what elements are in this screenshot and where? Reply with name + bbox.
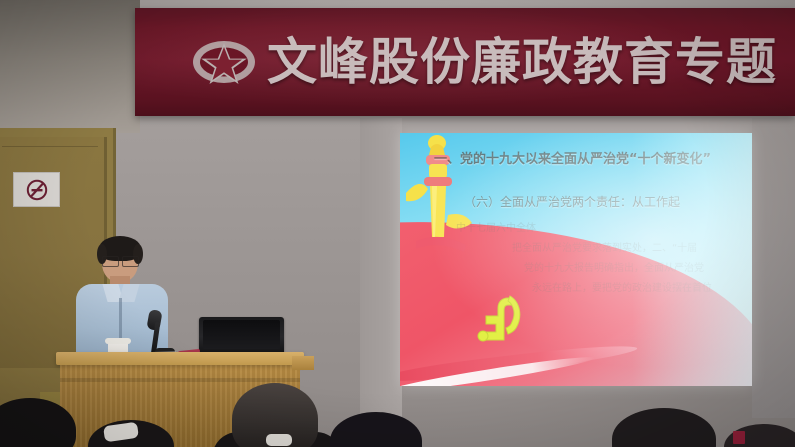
slide-body-line-1: 中十七届六中全体 [456,219,536,234]
wall-seam-left-of-screen [360,118,402,418]
no-smoking-sign [13,172,60,207]
slide-subtitle-text: （六）全面从严治党两个责任：从工作起 [464,193,752,210]
slide-body-line-3: 党的十九大报告明确指出，全面从严治党 [524,259,704,274]
hammer-and-sickle-emblem-icon [466,288,530,350]
banner-title-text: 文峰股份廉政教育专题 [267,37,777,87]
laptop-screen [203,320,280,349]
audience-red-badge [733,431,745,444]
slide-body-line-2: 把全面从严治党要求落到实处，二、“十届 [512,239,697,254]
door-trim-line [2,146,98,147]
presenter-glasses [102,256,139,265]
event-banner: 文峰股份廉政教育专题 [135,8,795,116]
audience-collar [266,434,292,446]
no-smoking-icon [24,178,50,202]
lecture-hall-photo: 文峰股份廉政教育专题 [0,0,795,447]
coffee-cup-lid [105,338,131,344]
podium-top-surface [56,352,304,365]
slide-title-text: 一、党的十九大以来全面从严治党“十个新变化” [434,148,750,167]
wenfeng-star-oval-logo-icon [191,38,257,86]
podium-side-extension [292,356,314,370]
podium-bevel [60,378,300,382]
slide-body-line-4: 永远在路上，要把党的政治建设摆在首位 [532,279,712,294]
right-wall-panel [752,118,795,418]
projection-screen: 一、党的十九大以来全面从严治党“十个新变化” （六）全面从严治党两个责任：从工作… [400,133,752,386]
upper-left-wall [0,0,140,133]
banner-content-row: 文峰股份廉政教育专题 [135,8,795,116]
